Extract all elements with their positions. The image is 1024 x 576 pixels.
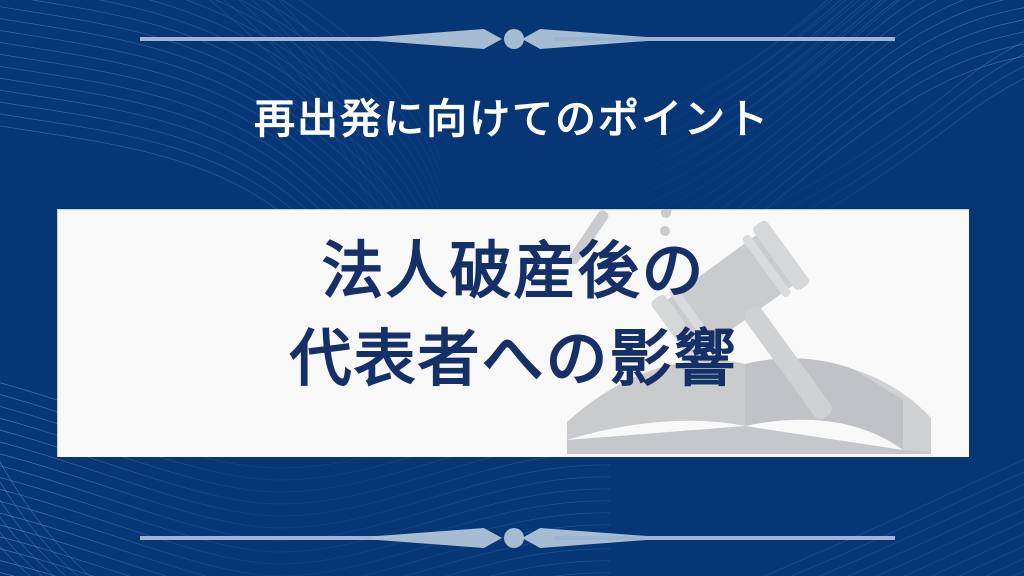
divider-rule-right-bottom xyxy=(554,536,895,540)
headline: 法人破産後の 代表者への影響 xyxy=(58,228,969,404)
divider-center-dot-icon xyxy=(504,29,524,49)
headline-line-2: 代表者への影響 xyxy=(58,316,969,404)
divider-bottom xyxy=(0,521,1024,555)
subtitle: 再出発に向けてのポイント xyxy=(0,96,1024,143)
divider-wedge-left-icon xyxy=(372,29,502,49)
slide-canvas: 再出発に向けてのポイント xyxy=(0,0,1024,576)
headline-line-1: 法人破産後の xyxy=(58,228,969,316)
divider-rule-right xyxy=(554,37,895,41)
divider-center-dot-bottom-icon xyxy=(504,528,524,548)
divider-wedge-left-bottom-icon xyxy=(372,528,502,548)
headline-card: 法人破産後の 代表者への影響 xyxy=(57,209,969,457)
divider-top xyxy=(0,22,1024,56)
